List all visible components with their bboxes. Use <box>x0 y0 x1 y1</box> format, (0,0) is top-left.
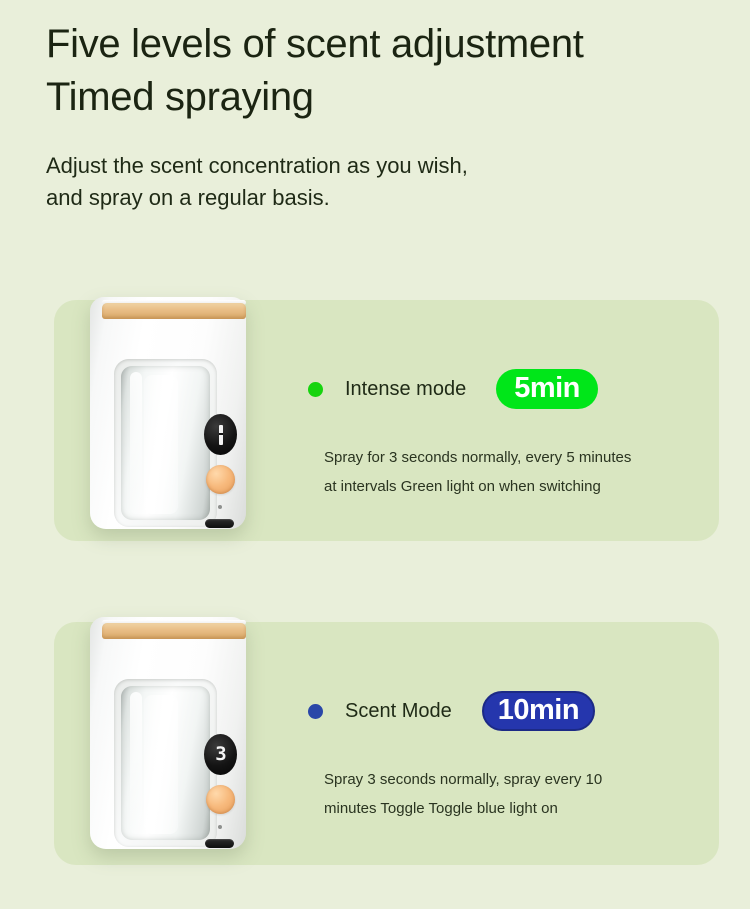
device-liquid-2 <box>144 695 178 834</box>
device-glass-sheen-1 <box>130 372 142 514</box>
device-power-button-1 <box>206 465 235 494</box>
headline-line-1: Five levels of scent adjustment <box>46 18 706 71</box>
device-display-1 <box>204 414 237 455</box>
mode-card-intense-body: Intense mode 5min Spray for 3 seconds no… <box>308 300 708 541</box>
mode-description-intense-line-2: at intervals Green light on when switchi… <box>324 472 708 501</box>
device-reservoir-glass-1 <box>121 366 210 520</box>
mode-description-scent-line-2: minutes Toggle Toggle blue light on <box>324 794 708 823</box>
interval-badge-10min: 10min <box>482 691 595 731</box>
mode-card-scent-body: Scent Mode 10min Spray 3 seconds normall… <box>308 622 708 865</box>
mode-description-scent: Spray 3 seconds normally, spray every 10… <box>324 765 708 824</box>
mode-label-scent: Scent Mode <box>345 700 452 723</box>
device-display-indicator-icon-1 <box>219 425 223 445</box>
device-display-level-value-2: 3 <box>215 745 225 764</box>
mode-label-intense: Intense mode <box>345 378 466 401</box>
bullet-dot-blue-icon <box>308 704 323 719</box>
device-glass-sheen-2 <box>130 692 142 834</box>
diffuser-device-image-2: 3 <box>82 601 254 854</box>
mode-description-scent-line-1: Spray 3 seconds normally, spray every 10 <box>324 765 708 794</box>
mode-description-intense-line-1: Spray for 3 seconds normally, every 5 mi… <box>324 443 708 472</box>
subheadline-line-1: Adjust the scent concentration as you wi… <box>46 150 706 182</box>
device-gold-cap-1 <box>102 303 246 319</box>
diffuser-device-image-1 <box>82 281 254 534</box>
mode-row-scent: Scent Mode 10min <box>308 690 595 732</box>
header: Five levels of scent adjustment Timed sp… <box>46 18 706 214</box>
subheadline: Adjust the scent concentration as you wi… <box>46 150 706 214</box>
device-reservoir-frame-2 <box>114 679 217 847</box>
device-body-2: 3 <box>90 617 246 849</box>
interval-badge-5min: 5min <box>496 369 598 409</box>
device-usb-port-1 <box>205 519 234 528</box>
device-reservoir-frame-1 <box>114 359 217 527</box>
device-gold-cap-2 <box>102 623 246 639</box>
device-liquid-1 <box>144 375 178 514</box>
bullet-dot-green-icon <box>308 382 323 397</box>
device-power-button-2 <box>206 785 235 814</box>
device-display-2: 3 <box>204 734 237 775</box>
headline-line-2: Timed spraying <box>46 71 706 124</box>
device-led-indicator-1 <box>218 505 222 509</box>
device-reservoir-glass-2 <box>121 686 210 840</box>
mode-description-intense: Spray for 3 seconds normally, every 5 mi… <box>324 443 708 502</box>
subheadline-line-2: and spray on a regular basis. <box>46 182 706 214</box>
mode-row-intense: Intense mode 5min <box>308 368 598 410</box>
device-body-1 <box>90 297 246 529</box>
device-led-indicator-2 <box>218 825 222 829</box>
device-usb-port-2 <box>205 839 234 848</box>
